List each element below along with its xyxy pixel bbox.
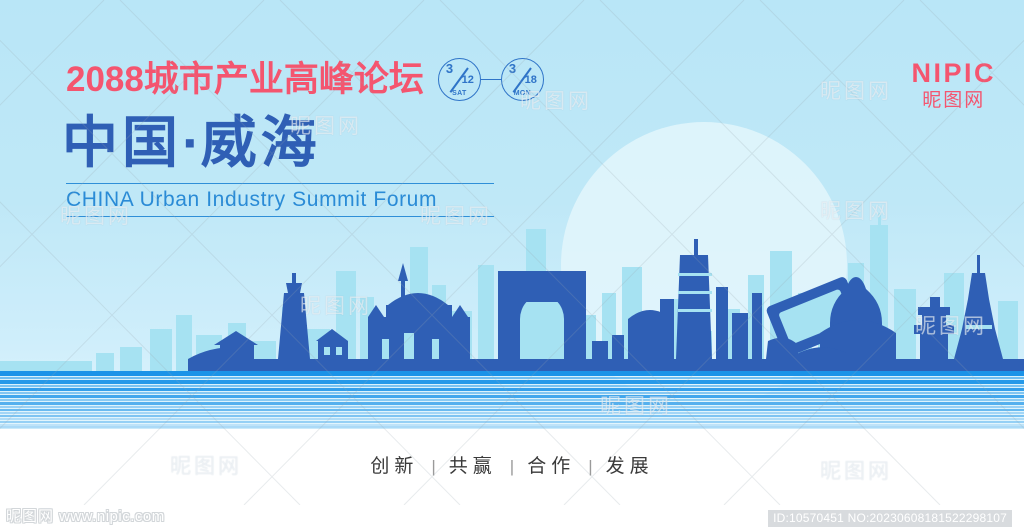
city-title-city: 威海: [201, 111, 321, 174]
water-line: [0, 409, 1024, 411]
badge-connector: [481, 79, 501, 81]
slogan-separator: |: [418, 457, 448, 476]
footer-meta: ID:10570451 NO:20230608181522298107: [768, 510, 1012, 527]
footer-bar: 昵图网 www.nipic.com ID:10570451 NO:2023060…: [0, 505, 1024, 529]
water-line: [0, 412, 1024, 414]
city-title-country: 中国: [62, 111, 182, 174]
brand-logo: NIPIC 昵图网: [911, 58, 996, 113]
date-badge-end: 3 18 MON: [501, 58, 544, 101]
badge-weekday: MON: [502, 90, 543, 97]
water-line: [0, 371, 1024, 376]
date-badge-start: 3 12 SAT: [438, 58, 481, 101]
badge-weekday: SAT: [439, 90, 480, 97]
badge-day: 18: [525, 75, 537, 86]
date-badge-group: 3 12 SAT 3 18 MON: [438, 58, 544, 101]
poster-artboard: 2088城市产业高峰论坛 3 12 SAT 3 18 MON 中国·威海: [0, 0, 1024, 505]
water-line: [0, 406, 1024, 408]
slogan-item: 发展: [606, 456, 654, 477]
footer-site: 昵图网 www.nipic.com: [6, 508, 165, 526]
slogan-item: 创新: [370, 456, 418, 477]
water-line: [0, 399, 1024, 401]
slogan-separator: |: [575, 457, 605, 476]
water-stripes: [0, 371, 1024, 429]
brand-name-en: NIPIC: [911, 58, 996, 88]
footer-site-url: www.nipic.com: [59, 508, 165, 526]
water-line: [0, 388, 1024, 391]
screenshot-stage: 2088城市产业高峰论坛 3 12 SAT 3 18 MON 中国·威海: [0, 0, 1024, 529]
slogan-item: 共赢: [449, 456, 497, 477]
watermark-text: 昵图网: [820, 75, 892, 105]
slogan-row: 创新|共赢|合作|发展: [0, 455, 1024, 479]
city-title-separator: ·: [182, 111, 201, 174]
page-title: 2088城市产业高峰论坛: [66, 61, 424, 99]
badge-month: 3: [509, 62, 516, 75]
foreground-skyline-landmarks: [0, 221, 1024, 371]
water-line: [0, 377, 1024, 379]
brand-name-cn: 昵图网: [911, 89, 996, 113]
water-line: [0, 402, 1024, 405]
slogan-item: 合作: [527, 456, 575, 477]
water-line: [0, 380, 1024, 384]
water-line: [0, 395, 1024, 398]
footer-site-cn: 昵图网: [6, 508, 54, 526]
water-line: [0, 421, 1024, 423]
headline-row: 2088城市产业高峰论坛 3 12 SAT 3 18 MON: [66, 58, 544, 101]
badge-month: 3: [446, 62, 453, 75]
badge-day: 12: [462, 75, 474, 86]
water-line: [0, 385, 1024, 387]
city-title: 中国·威海: [62, 112, 321, 174]
water-line: [0, 418, 1024, 420]
subtitle: CHINA Urban Industry Summit Forum: [66, 187, 494, 212]
water-line: [0, 392, 1024, 394]
slogan-separator: |: [497, 457, 527, 476]
subtitle-rule: CHINA Urban Industry Summit Forum: [66, 183, 494, 217]
water-line: [0, 415, 1024, 417]
